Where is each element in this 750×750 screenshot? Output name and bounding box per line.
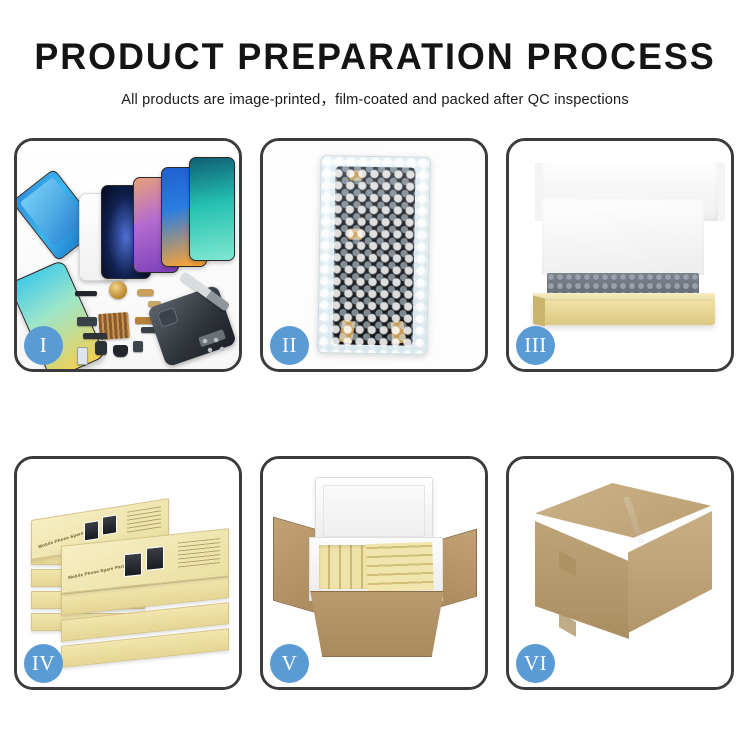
- box-phone-graphic: [146, 546, 164, 571]
- yellow-boxes-inside: [366, 542, 434, 592]
- box-label: Mobile Phone Spare Parts: [68, 563, 127, 580]
- box-stack: Mobile Phone Spare Parts Mobile Phone Sp…: [25, 473, 231, 673]
- process-step-3: III: [506, 138, 734, 372]
- box-side-panel: [533, 296, 545, 327]
- step-badge-3: III: [516, 326, 555, 365]
- step-badge-1: I: [24, 326, 63, 365]
- speaker-coil-part: [109, 281, 127, 299]
- carton-left-face: [535, 521, 629, 639]
- box-phone-graphic: [124, 552, 142, 577]
- box-phone-graphic: [84, 520, 99, 541]
- carton-front-panel: [301, 591, 453, 657]
- foam-lid: [315, 477, 433, 545]
- process-step-6: VI: [506, 456, 734, 690]
- bubble-texture: [318, 156, 429, 354]
- header: PRODUCT PREPARATION PROCESS All products…: [0, 0, 750, 109]
- camera-module-part: [133, 341, 143, 352]
- step-badge-6: VI: [516, 644, 555, 683]
- box-text-block: [178, 538, 220, 568]
- process-step-1: I: [14, 138, 242, 372]
- process-step-2: II: [260, 138, 488, 372]
- step-badge-5: V: [270, 644, 309, 683]
- speaker-part: [113, 345, 128, 357]
- sim-tray-part: [77, 347, 88, 365]
- step-badge-2: II: [270, 326, 309, 365]
- process-step-5: V: [260, 456, 488, 690]
- screws-group: [201, 337, 227, 355]
- spare-part: [83, 333, 107, 339]
- foam-sheet: [542, 197, 704, 275]
- process-step-4: Mobile Phone Spare Parts Mobile Phone Sp…: [14, 456, 242, 690]
- spare-part: [95, 341, 107, 355]
- spare-part: [77, 317, 97, 326]
- bubble-wrapped-package: [317, 155, 430, 355]
- phone-display-teal: [189, 157, 235, 261]
- process-steps-grid: I II: [14, 138, 736, 690]
- step-badge-4: IV: [24, 644, 63, 683]
- spare-part: [137, 289, 154, 296]
- box-text-block: [127, 506, 161, 533]
- spare-part: [75, 291, 97, 296]
- product-preparation-infographic: PRODUCT PREPARATION PROCESS All products…: [0, 0, 750, 750]
- box-front-panel: [533, 301, 715, 325]
- box-phone-graphic: [102, 514, 117, 535]
- page-subtitle: All products are image-printed，film-coat…: [0, 88, 750, 109]
- page-title: PRODUCT PREPARATION PROCESS: [11, 38, 739, 77]
